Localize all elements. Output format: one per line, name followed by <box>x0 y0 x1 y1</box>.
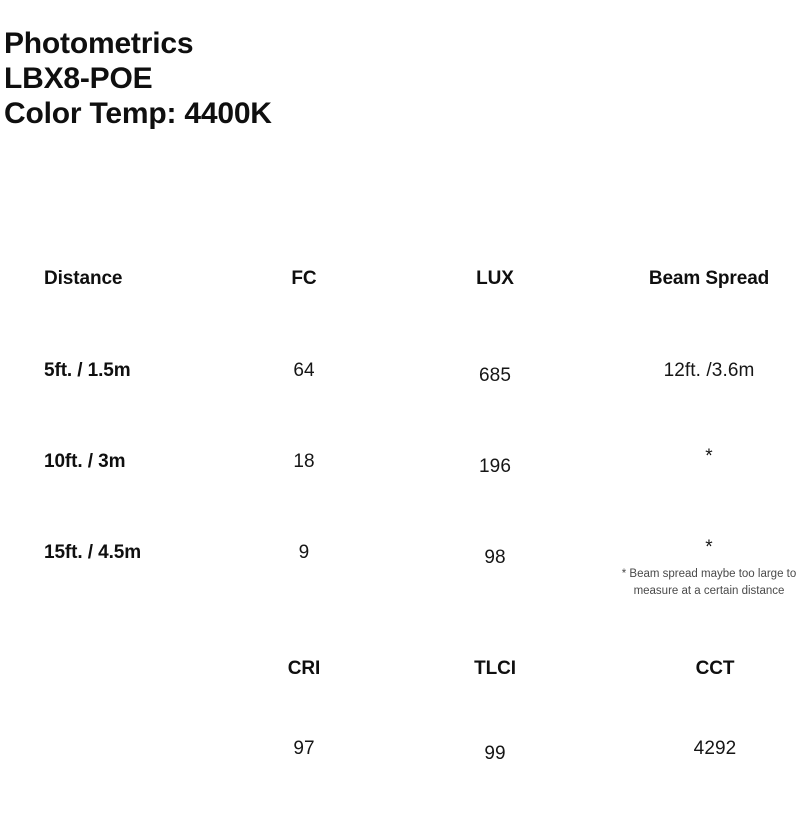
table-row: 5ft. / 1.5m 64 685 12ft. /3.6m <box>0 360 800 451</box>
cell-beam-spread: 12ft. /3.6m <box>618 360 800 382</box>
table-row: 10ft. / 3m 18 196 * <box>0 451 800 542</box>
table-header-row: Distance FC LUX Beam Spread <box>0 268 800 360</box>
cell-beam-spread-asterisk: * <box>618 451 800 463</box>
color-quality-header-row: CRI TLCI CCT <box>0 658 800 738</box>
color-quality-table: CRI TLCI CCT 97 99 4292 <box>0 658 800 818</box>
column-header-cct: CCT <box>630 658 800 680</box>
row-label-distance: 5ft. / 1.5m <box>44 360 131 382</box>
column-header-beam-spread: Beam Spread <box>618 268 800 290</box>
cell-cri: 97 <box>234 738 374 760</box>
cell-fc: 18 <box>234 451 374 473</box>
row-label-distance: 15ft. / 4.5m <box>44 542 141 564</box>
cell-fc: 64 <box>234 360 374 382</box>
cell-fc: 9 <box>234 542 374 564</box>
color-quality-value-row: 97 99 4292 <box>0 738 800 818</box>
page-title: Photometrics <box>4 26 604 61</box>
cell-beam-spread-asterisk: * <box>618 542 800 554</box>
photometrics-table: Distance FC LUX Beam Spread 5ft. / 1.5m … <box>0 268 800 633</box>
cell-lux: 685 <box>425 360 565 387</box>
beam-spread-footnote: * Beam spread maybe too large to measure… <box>618 566 800 600</box>
cell-tlci: 99 <box>425 738 565 765</box>
column-header-lux: LUX <box>425 268 565 290</box>
row-label-distance: 10ft. / 3m <box>44 451 125 473</box>
column-header-tlci: TLCI <box>425 658 565 680</box>
table-row: 15ft. / 4.5m 9 98 * * Beam spread maybe … <box>0 542 800 633</box>
cell-lux: 196 <box>425 451 565 478</box>
product-model: LBX8-POE <box>4 61 604 96</box>
color-temperature: Color Temp: 4400K <box>4 96 604 131</box>
cell-lux: 98 <box>425 542 565 569</box>
column-header-distance: Distance <box>44 268 122 290</box>
column-header-cri: CRI <box>234 658 374 680</box>
cell-cct: 4292 <box>630 738 800 760</box>
column-header-fc: FC <box>234 268 374 290</box>
page-title-block: Photometrics LBX8-POE Color Temp: 4400K <box>4 26 604 131</box>
